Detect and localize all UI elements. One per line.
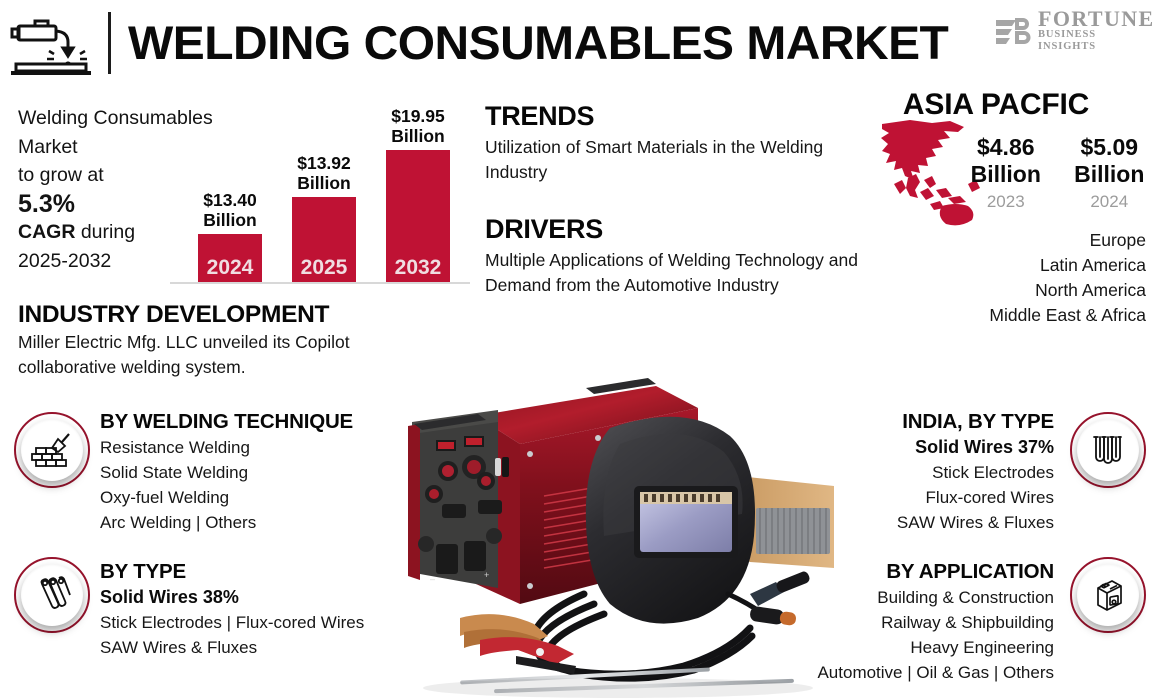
bar-2025: 2025	[292, 197, 356, 282]
region-item: Latin America	[846, 253, 1146, 278]
welding-machine-box-icon	[1088, 575, 1128, 615]
ap-value-2024: $5.09	[1064, 134, 1156, 161]
regions-list: Europe Latin America North America Middl…	[846, 228, 1146, 328]
coiled-wire-icon	[1089, 431, 1127, 469]
india-by-type-item: Stick Electrodes	[754, 460, 1054, 485]
region-item: Middle East & Africa	[846, 303, 1146, 328]
india-by-type-section: INDIA, BY TYPE Solid Wires 37% Stick Ele…	[754, 408, 1054, 535]
industry-development-section: INDUSTRY DEVELOPMENT Miller Electric Mfg…	[18, 300, 438, 380]
by-application-item: Heavy Engineering	[724, 635, 1054, 660]
drivers-body: Multiple Applications of Welding Technol…	[485, 248, 885, 298]
trends-body: Utilization of Smart Materials in the We…	[485, 135, 885, 185]
bar-2032: 2032	[386, 150, 450, 282]
svg-text:–: –	[430, 574, 435, 584]
by-type-section: BY TYPE Solid Wires 38% Stick Electrodes…	[100, 558, 410, 660]
welding-technique-item: Oxy-fuel Welding	[100, 485, 400, 510]
drivers-block: DRIVERS Multiple Applications of Welding…	[485, 213, 885, 298]
india-by-type-heading: INDIA, BY TYPE	[754, 408, 1054, 435]
welding-technique-item: Arc Welding | Others	[100, 510, 400, 535]
india-by-type-lead: Solid Wires 37%	[754, 435, 1054, 460]
bar-2024: 2024	[198, 234, 262, 282]
ap-figure-2024: $5.09 Billion 2024	[1064, 134, 1156, 214]
by-type-heading: BY TYPE	[100, 558, 410, 585]
ap-unit-2023: Billion	[960, 161, 1052, 188]
cagr-tail: during	[75, 221, 135, 243]
by-application-item: Automotive | Oil & Gas | Others	[724, 660, 1054, 685]
fb-monogram-icon	[994, 16, 1032, 46]
welding-technique-item: Resistance Welding	[100, 435, 400, 460]
bar-group-2032: $19.95 Billion 2032	[386, 150, 450, 282]
india-by-type-item: SAW Wires & Fluxes	[754, 510, 1054, 535]
by-welding-technique-section: BY WELDING TECHNIQUE Resistance Welding …	[100, 408, 400, 535]
welding-machine-box-icon-circle	[1070, 557, 1146, 633]
bar-label-2025: $13.92 Billion	[282, 153, 366, 197]
industry-development-body: Miller Electric Mfg. LLC unveiled its Co…	[18, 330, 438, 380]
by-application-item: Building & Construction	[724, 585, 1054, 610]
asia-pacific-heading: ASIA PACFIC	[846, 88, 1146, 122]
by-welding-technique-heading: BY WELDING TECHNIQUE	[100, 408, 400, 435]
welding-torch-icon	[8, 14, 100, 76]
logo-secondary-text: BUSINESS INSIGHTS	[1038, 29, 1155, 53]
brick-wall-trowel-icon	[31, 429, 73, 471]
drivers-heading: DRIVERS	[485, 213, 885, 246]
by-type-item: SAW Wires & Fluxes	[100, 635, 410, 660]
header: WELDING CONSUMABLES MARKET FORTUNE BUSIN…	[0, 0, 1160, 84]
bar-label-2032: $19.95 Billion	[376, 106, 460, 150]
header-divider	[108, 12, 111, 74]
bar-group-2025: $13.92 Billion 2025	[292, 197, 356, 282]
ap-value-2023: $4.86	[960, 134, 1052, 161]
ap-figure-2023: $4.86 Billion 2023	[960, 134, 1052, 214]
page-title: WELDING CONSUMABLES MARKET	[128, 12, 948, 74]
by-application-item: Railway & Shipbuilding	[724, 610, 1054, 635]
india-by-type-item: Flux-cored Wires	[754, 485, 1054, 510]
trends-block: TRENDS Utilization of Smart Materials in…	[485, 100, 885, 185]
coiled-wire-icon-circle	[1070, 412, 1146, 488]
ap-year-2024: 2024	[1064, 190, 1156, 214]
asia-pacific-figures: $4.86 Billion 2023 $5.09 Billion 2024	[960, 134, 1155, 214]
market-size-bar-chart: $13.40 Billion 2024 $13.92 Billion 2025 …	[170, 92, 470, 284]
logo-primary-text: FORTUNE	[1038, 9, 1155, 29]
by-type-item: Stick Electrodes | Flux-cored Wires	[100, 610, 410, 635]
bar-year-2024: 2024	[198, 256, 262, 280]
trends-heading: TRENDS	[485, 100, 885, 133]
svg-text:+: +	[484, 570, 489, 580]
bar-year-2025: 2025	[292, 256, 356, 280]
industry-development-heading: INDUSTRY DEVELOPMENT	[18, 300, 438, 330]
by-application-heading: BY APPLICATION	[724, 558, 1054, 585]
trends-drivers-section: TRENDS Utilization of Smart Materials in…	[485, 100, 885, 298]
ap-year-2023: 2023	[960, 190, 1052, 214]
cagr-label: CAGR	[18, 221, 75, 243]
region-item: Europe	[846, 228, 1146, 253]
fortune-business-insights-logo: FORTUNE BUSINESS INSIGHTS	[994, 10, 1146, 52]
bar-year-2032: 2032	[386, 256, 450, 280]
by-application-section: BY APPLICATION Building & Construction R…	[724, 558, 1054, 685]
chart-baseline	[170, 282, 470, 284]
bar-label-2024: $13.40 Billion	[188, 190, 272, 234]
welding-rods-icon	[32, 575, 72, 615]
ap-unit-2024: Billion	[1064, 161, 1156, 188]
brick-wall-trowel-icon-circle	[14, 412, 90, 488]
by-type-lead: Solid Wires 38%	[100, 585, 410, 610]
welding-rods-icon-circle	[14, 557, 90, 633]
bar-group-2024: $13.40 Billion 2024	[198, 234, 262, 282]
welding-technique-item: Solid State Welding	[100, 460, 400, 485]
region-item: North America	[846, 278, 1146, 303]
